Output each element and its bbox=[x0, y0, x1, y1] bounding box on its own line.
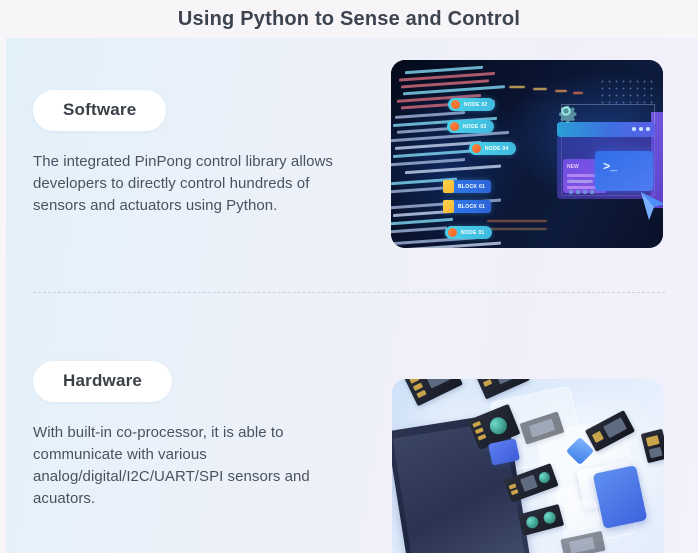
block-square-icon bbox=[443, 200, 454, 213]
gear-icon bbox=[551, 96, 581, 126]
developer-label: Developer bbox=[569, 179, 592, 185]
page-root: Using Python to Sense and Control Softwa… bbox=[0, 0, 698, 553]
node-dot-icon bbox=[472, 144, 481, 153]
progress-dots-icon bbox=[569, 190, 594, 194]
node-dot-icon bbox=[451, 100, 460, 109]
page-title: Using Python to Sense and Control bbox=[0, 6, 698, 32]
software-text-block: Software The integrated PinPong control … bbox=[33, 90, 363, 217]
software-illustration: NODE 02 NODE 03 NODE 04 BLOCK 01 BLOCK 0… bbox=[391, 60, 663, 248]
hardware-label-pill: Hardware bbox=[33, 361, 172, 402]
section-hardware: Hardware With built-in co-processor, it … bbox=[6, 293, 698, 553]
node-badge: NODE 02 bbox=[448, 98, 495, 111]
node-badge: NODE 03 bbox=[447, 120, 494, 133]
window-dots-icon bbox=[632, 127, 650, 131]
node-dot-icon bbox=[450, 122, 459, 131]
node-badge: NODE 01 bbox=[445, 226, 492, 239]
hardware-description: With built-in co-processor, it is able t… bbox=[33, 422, 345, 510]
node-badge: NODE 04 bbox=[469, 142, 516, 155]
block-square-icon bbox=[443, 180, 454, 193]
hardware-text-block: Hardware With built-in co-processor, it … bbox=[33, 361, 363, 510]
section-software: Software The integrated PinPong control … bbox=[6, 38, 698, 293]
dot-grid-icon bbox=[599, 78, 653, 104]
software-label-pill: Software bbox=[33, 90, 166, 131]
node-dot-icon bbox=[448, 228, 457, 237]
hardware-illustration bbox=[392, 379, 664, 553]
block-badge: BLOCK 01 bbox=[443, 180, 491, 193]
content-panel: Software The integrated PinPong control … bbox=[6, 38, 698, 553]
block-badge: BLOCK 01 bbox=[443, 200, 491, 213]
terminal-window: >_ bbox=[595, 151, 653, 191]
software-description: The integrated PinPong control library a… bbox=[33, 151, 345, 217]
